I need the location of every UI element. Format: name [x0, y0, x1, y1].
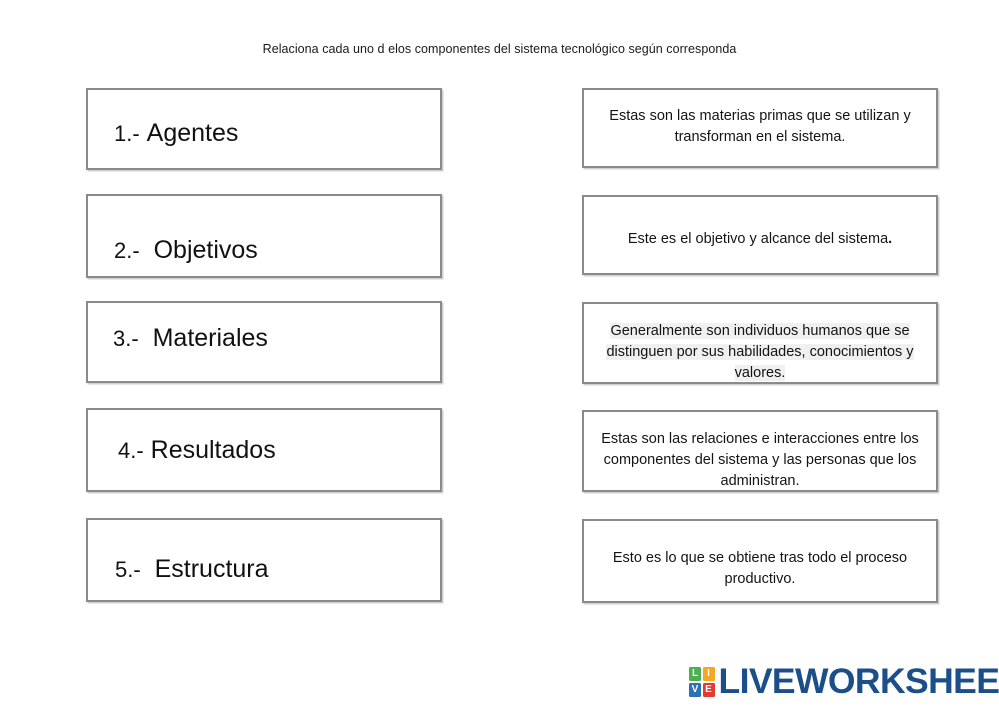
term-word-3: Materiales — [153, 324, 268, 352]
term-number-3: 3.- — [113, 326, 139, 351]
logo-tile-e: E — [703, 683, 715, 697]
definition-card-1[interactable]: Estas son las materias primas que se uti… — [582, 88, 938, 168]
logo-tile-v: V — [689, 683, 701, 697]
term-number-4: 4.- — [118, 438, 144, 463]
logo-tile-i: I — [703, 667, 715, 681]
term-label-3: 3.- Materiales — [113, 326, 430, 351]
definition-text-2-body: Este es el objetivo y alcance del sistem… — [628, 231, 888, 247]
logo-tile-grid: L I V E — [689, 667, 715, 697]
liveworksheets-logo[interactable]: L I V E LIVEWORKSHEETS — [689, 661, 999, 703]
worksheet-page: Relaciona cada uno d elos componentes de… — [0, 0, 999, 707]
definition-card-4[interactable]: Estas son las relaciones e interacciones… — [582, 410, 938, 492]
term-word-1: Agentes — [147, 119, 239, 147]
definition-text-5: Esto es lo que se obtiene tras todo el p… — [598, 548, 922, 590]
term-word-4: Resultados — [151, 436, 276, 464]
instruction-text: Relaciona cada uno d elos componentes de… — [0, 41, 999, 57]
definition-text-4: Estas son las relaciones e interacciones… — [598, 429, 922, 492]
term-number-1: 1.- — [114, 121, 140, 146]
term-label-2: 2.- Objetivos — [114, 238, 430, 263]
term-card-4[interactable]: 4.- Resultados — [86, 408, 442, 492]
term-card-2[interactable]: 2.- Objetivos — [86, 194, 442, 278]
term-card-1[interactable]: 1.- Agentes — [86, 88, 442, 170]
term-word-2: Objetivos — [154, 236, 258, 264]
term-card-3[interactable]: 3.- Materiales — [86, 301, 442, 383]
term-number-2: 2.- — [114, 238, 140, 263]
definition-card-2[interactable]: Este es el objetivo y alcance del sistem… — [582, 195, 938, 275]
logo-wordmark: LIVEWORKSHEETS — [719, 664, 999, 700]
definition-text-3: Generalmente son individuos humanos que … — [598, 321, 922, 384]
definition-text-1: Estas son las materias primas que se uti… — [598, 106, 922, 148]
definition-text-2: Este es el objetivo y alcance del sistem… — [598, 223, 922, 255]
definition-card-5[interactable]: Esto es lo que se obtiene tras todo el p… — [582, 519, 938, 603]
definition-text-3-highlight: Generalmente son individuos humanos que … — [606, 323, 913, 381]
term-card-5[interactable]: 5.- Estructura — [86, 518, 442, 602]
term-number-5: 5.- — [115, 557, 141, 582]
definition-text-2-period: . — [888, 231, 892, 247]
definition-card-3[interactable]: Generalmente son individuos humanos que … — [582, 302, 938, 384]
term-label-4: 4.- Resultados — [118, 438, 430, 463]
term-label-5: 5.- Estructura — [115, 557, 430, 582]
term-label-1: 1.- Agentes — [114, 121, 430, 146]
term-word-5: Estructura — [155, 555, 269, 583]
logo-tile-l: L — [689, 667, 701, 681]
